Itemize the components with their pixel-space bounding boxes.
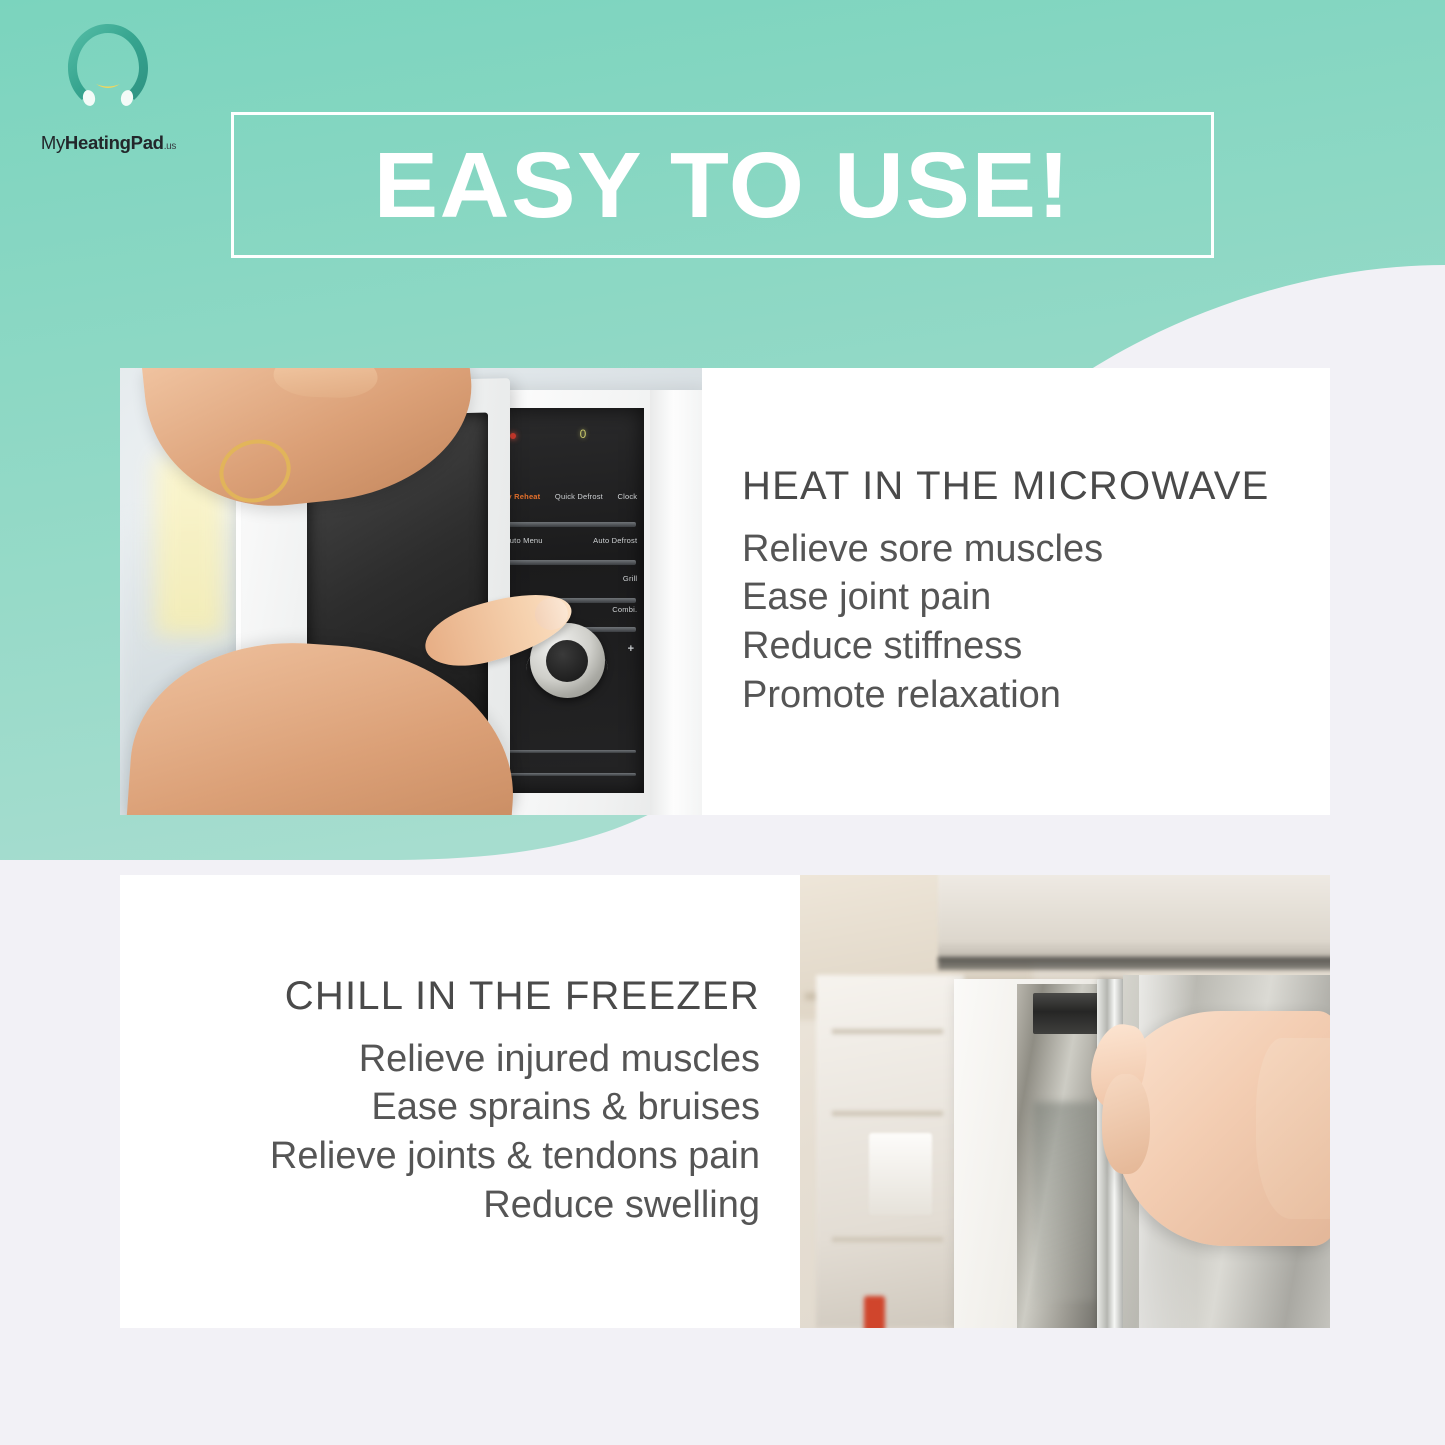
benefit-item: Promote relaxation <box>742 671 1103 720</box>
brand-name-pad: Pad <box>131 132 164 153</box>
infographic-root: MyHeatingPad.us EASY TO USE! 0 Crispy Re… <box>0 0 1445 1445</box>
button-clock[interactable]: Clock <box>617 493 637 502</box>
horseshoe-neck-wrap-icon <box>58 20 158 112</box>
card-chill-benefit-list: Relieve injured muscles Ease sprains & b… <box>270 1035 760 1230</box>
headline-banner: EASY TO USE! <box>231 112 1214 258</box>
benefit-item: Relieve injured muscles <box>270 1035 760 1084</box>
forearm <box>1256 1038 1330 1219</box>
benefit-item: Reduce swelling <box>270 1181 760 1230</box>
card-heat-benefit-list: Relieve sore muscles Ease joint pain Red… <box>742 525 1103 720</box>
page-title: EASY TO USE! <box>374 139 1072 232</box>
dial-plus-icon: + <box>628 643 634 655</box>
microwave-display: 0 <box>566 427 602 462</box>
brand-name-heating: Heating <box>65 132 131 153</box>
benefit-item: Relieve joints & tendons pain <box>270 1132 760 1181</box>
benefit-item: Relieve sore muscles <box>742 525 1103 574</box>
benefit-item: Ease sprains & bruises <box>270 1083 760 1132</box>
indicator-led-icon <box>510 433 516 439</box>
button-grill[interactable]: Grill <box>623 575 637 584</box>
hand-opening-freezer-door-photo <box>800 875 1330 1328</box>
brand-tld: .us <box>164 141 176 152</box>
card-chill-title: CHILL IN THE FREEZER <box>285 974 760 1019</box>
button-auto-defrost[interactable]: Auto Defrost <box>593 537 637 546</box>
card-chill-in-freezer: CHILL IN THE FREEZER Relieve injured mus… <box>120 875 1330 1328</box>
button-combi[interactable]: Combi. <box>612 606 637 615</box>
card-chill-copy: CHILL IN THE FREEZER Relieve injured mus… <box>120 875 800 1328</box>
brand-logo: MyHeatingPad.us <box>16 20 201 148</box>
brand-name-my: My <box>41 132 65 153</box>
card-heat-copy: HEAT IN THE MICROWAVE Relieve sore muscl… <box>702 368 1330 815</box>
benefit-item: Reduce stiffness <box>742 622 1103 671</box>
benefit-item: Ease joint pain <box>742 573 1103 622</box>
card-heat-title: HEAT IN THE MICROWAVE <box>742 464 1269 509</box>
card-heat-in-microwave: 0 Crispy Reheat Quick Defrost Clock Thai… <box>120 368 1330 815</box>
brand-wordmark: MyHeatingPad.us <box>16 132 201 154</box>
button-quick-defrost[interactable]: Quick Defrost <box>555 493 603 502</box>
hands-opening-microwave-photo: 0 Crispy Reheat Quick Defrost Clock Thai… <box>120 368 702 815</box>
